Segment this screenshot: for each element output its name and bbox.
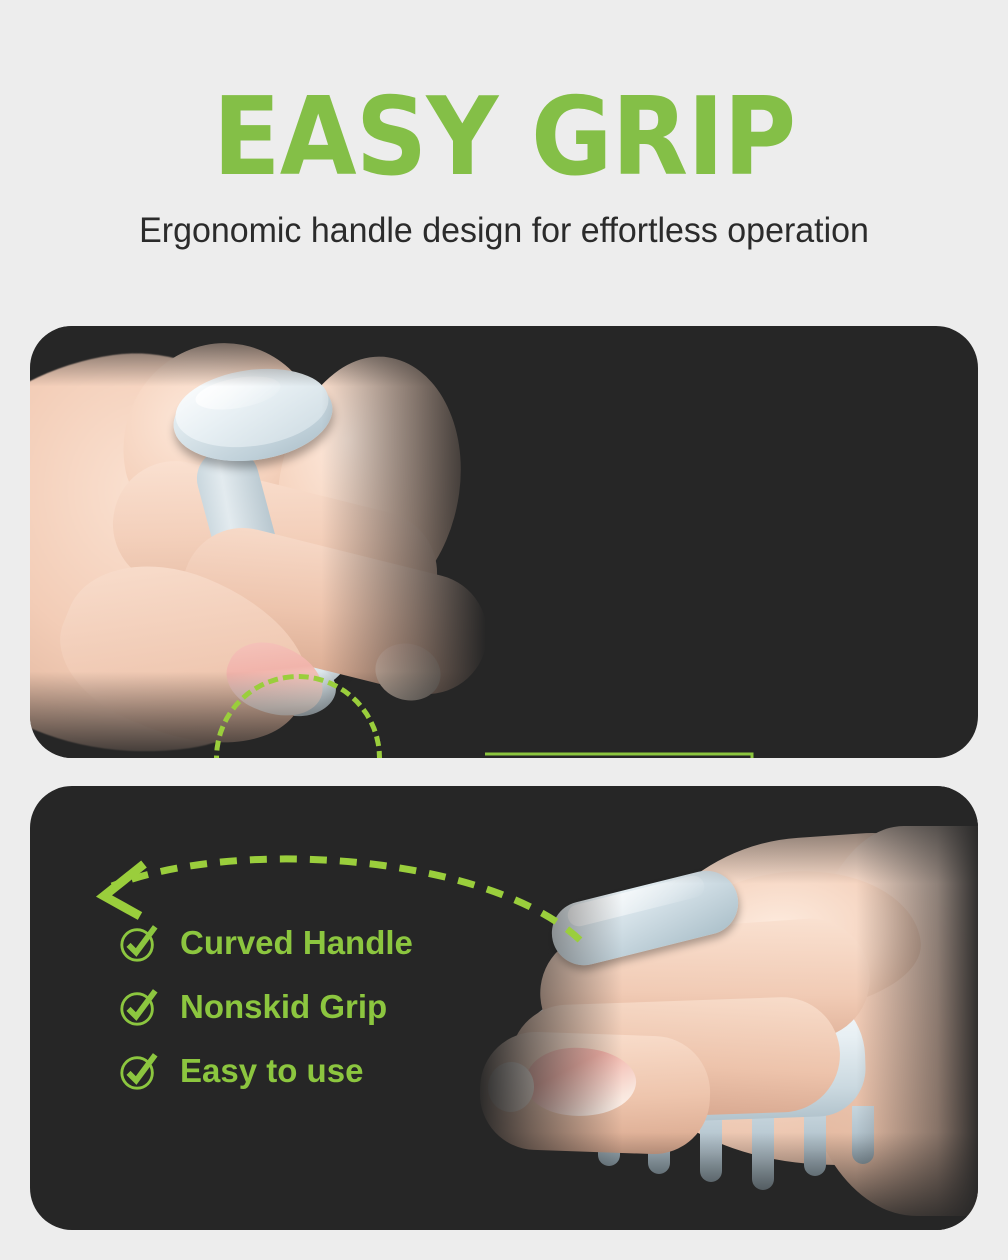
feature-bullet-list: Curved Handle Nonskid Grip Easy to use [118,922,413,1092]
list-item-label: Curved Handle [180,924,413,962]
feature-panel-index-middle-grip: Index-Middle Grip [30,326,978,758]
circle-check-icon [118,986,160,1028]
circle-check-icon [118,1050,160,1092]
callout-connector-line-icon [330,746,760,758]
list-item-label: Nonskid Grip [180,988,387,1026]
list-item: Easy to use [118,1050,413,1092]
page-subtitle: Ergonomic handle design for effortless o… [15,209,993,253]
feature-panel-handle-benefits: Curved Handle Nonskid Grip Easy to use [30,786,978,1230]
list-item-label: Easy to use [180,1052,363,1090]
list-item: Curved Handle [118,922,413,964]
header: EASY GRIP Ergonomic handle design for ef… [0,0,1008,300]
page-title: EASY GRIP [40,84,967,192]
list-item: Nonskid Grip [118,986,413,1028]
circle-check-icon [118,922,160,964]
